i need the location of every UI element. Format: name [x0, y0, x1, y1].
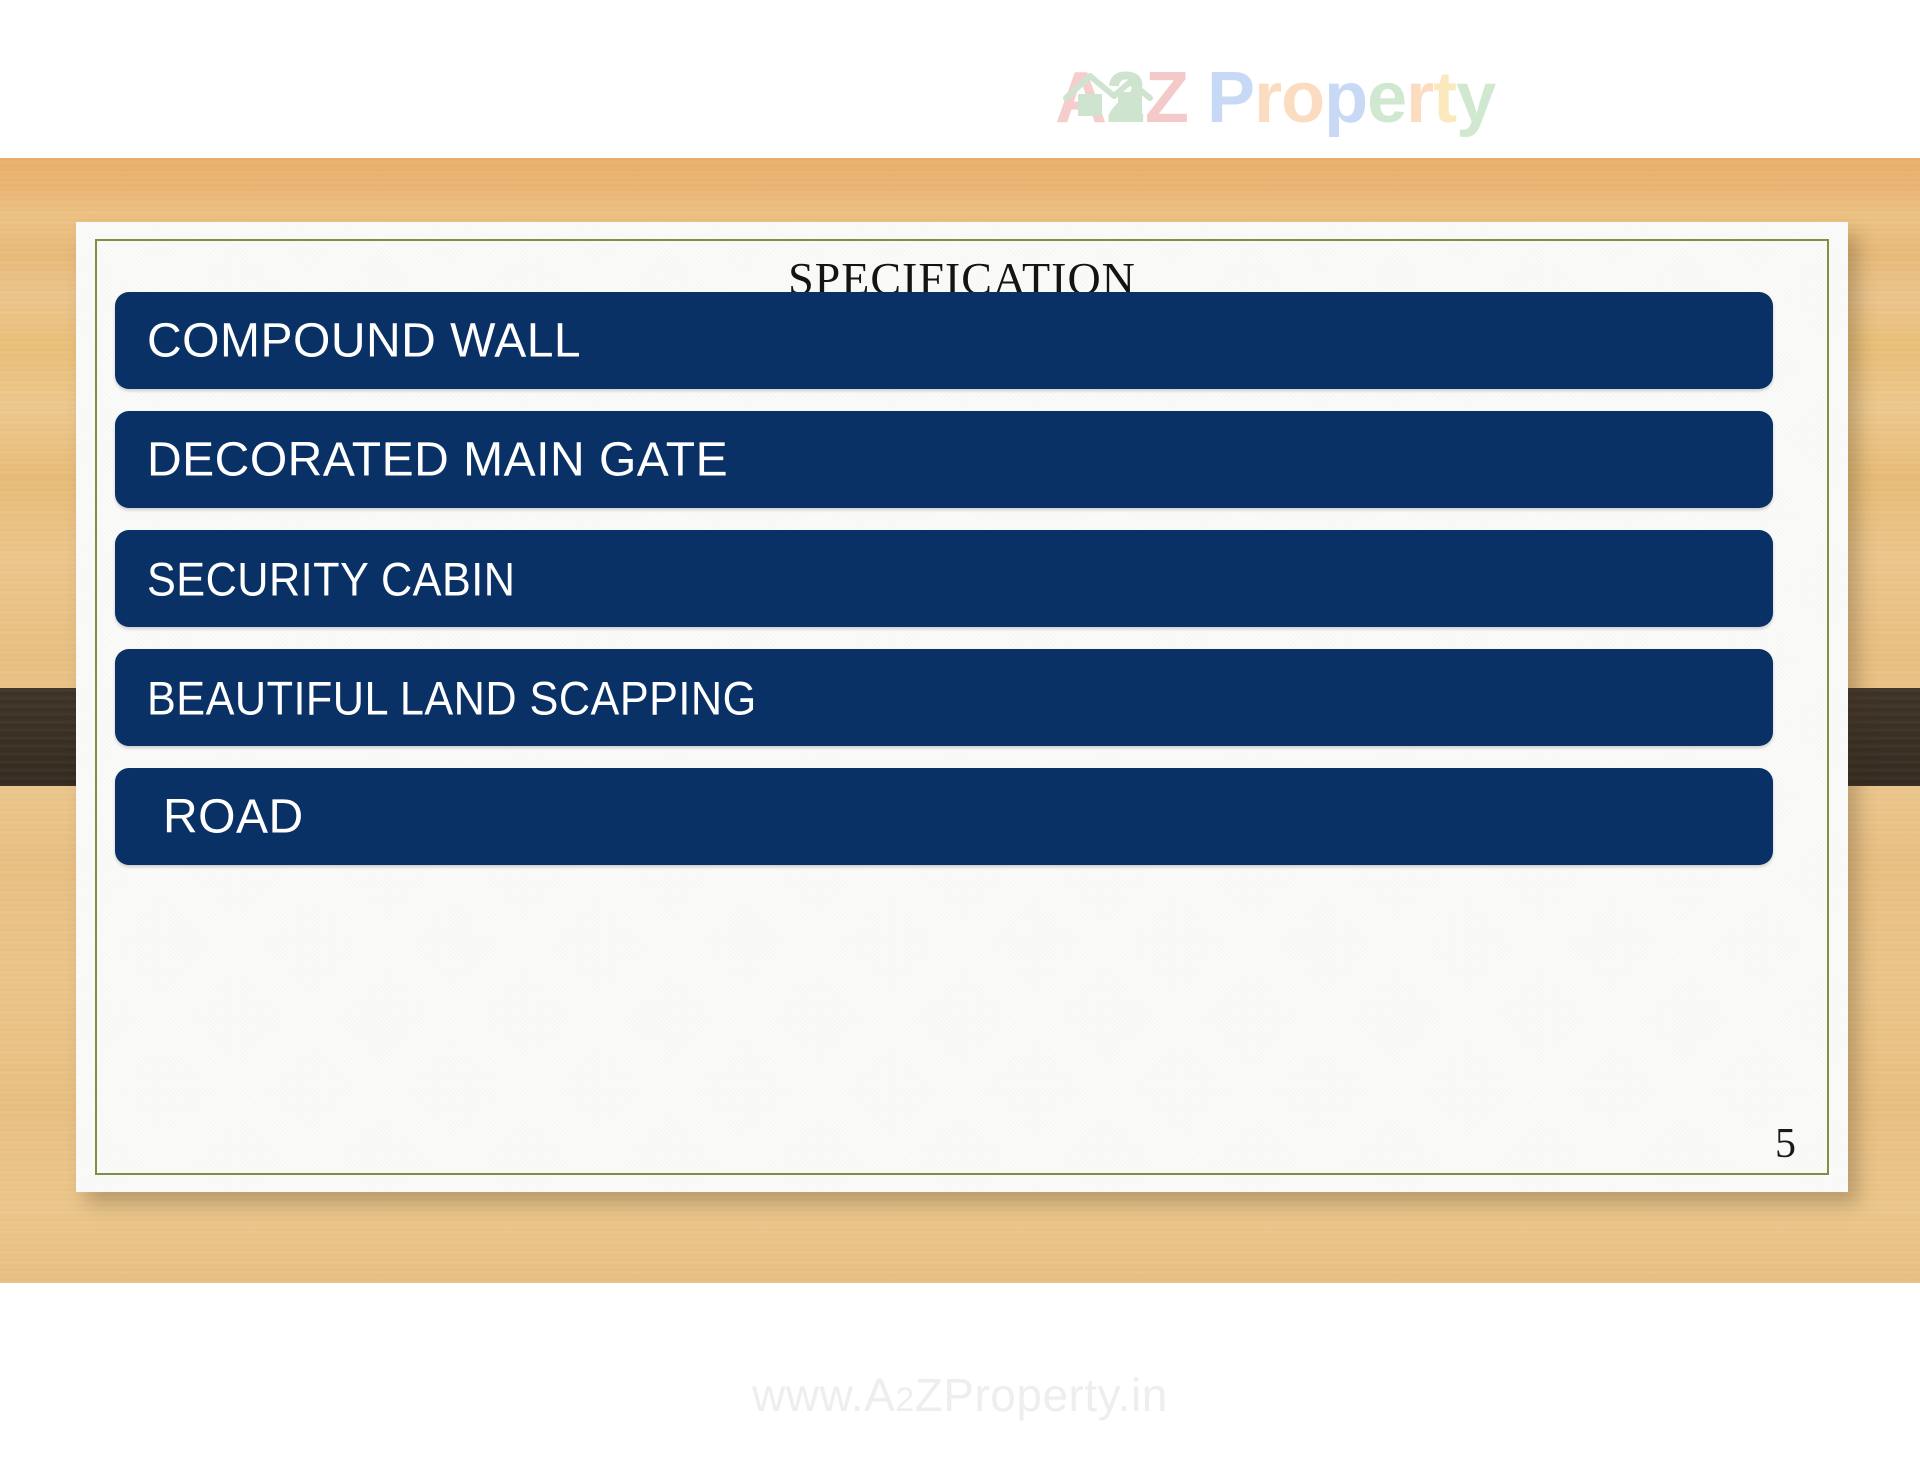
logo-word-property: Property — [1207, 58, 1495, 138]
page-number: 5 — [1775, 1120, 1796, 1168]
spec-bar-label: BEAUTIFUL LAND SCAPPING — [147, 670, 757, 725]
spec-bar-label: SECURITY CABIN — [147, 551, 515, 606]
logo-space — [1188, 58, 1207, 138]
footer-prefix: www.A — [752, 1369, 895, 1421]
brand-logo: A2Z Property — [1055, 58, 1615, 138]
footer-suffix: ZProperty.in — [915, 1369, 1168, 1421]
house-icon — [1060, 64, 1156, 120]
spec-bar-security-cabin[interactable]: SECURITY CABIN — [115, 530, 1773, 627]
spec-bar-beautiful-land-scapping[interactable]: BEAUTIFUL LAND SCAPPING — [115, 649, 1773, 746]
footer-website: www.A2ZProperty.in — [0, 1368, 1920, 1422]
spec-bar-label: COMPOUND WALL — [147, 313, 581, 368]
spec-bar-label: DECORATED MAIN GATE — [147, 432, 728, 487]
specification-list: COMPOUND WALL DECORATED MAIN GATE SECURI… — [115, 292, 1773, 887]
spec-bar-compound-wall[interactable]: COMPOUND WALL — [115, 292, 1773, 389]
footer-digit-2: 2 — [895, 1381, 914, 1419]
spec-bar-label: ROAD — [163, 789, 304, 844]
slide-card: SPECIFICATION COMPOUND WALL DECORATED MA… — [76, 222, 1848, 1192]
spec-bar-road[interactable]: ROAD — [115, 768, 1773, 865]
spec-bar-decorated-main-gate[interactable]: DECORATED MAIN GATE — [115, 411, 1773, 508]
